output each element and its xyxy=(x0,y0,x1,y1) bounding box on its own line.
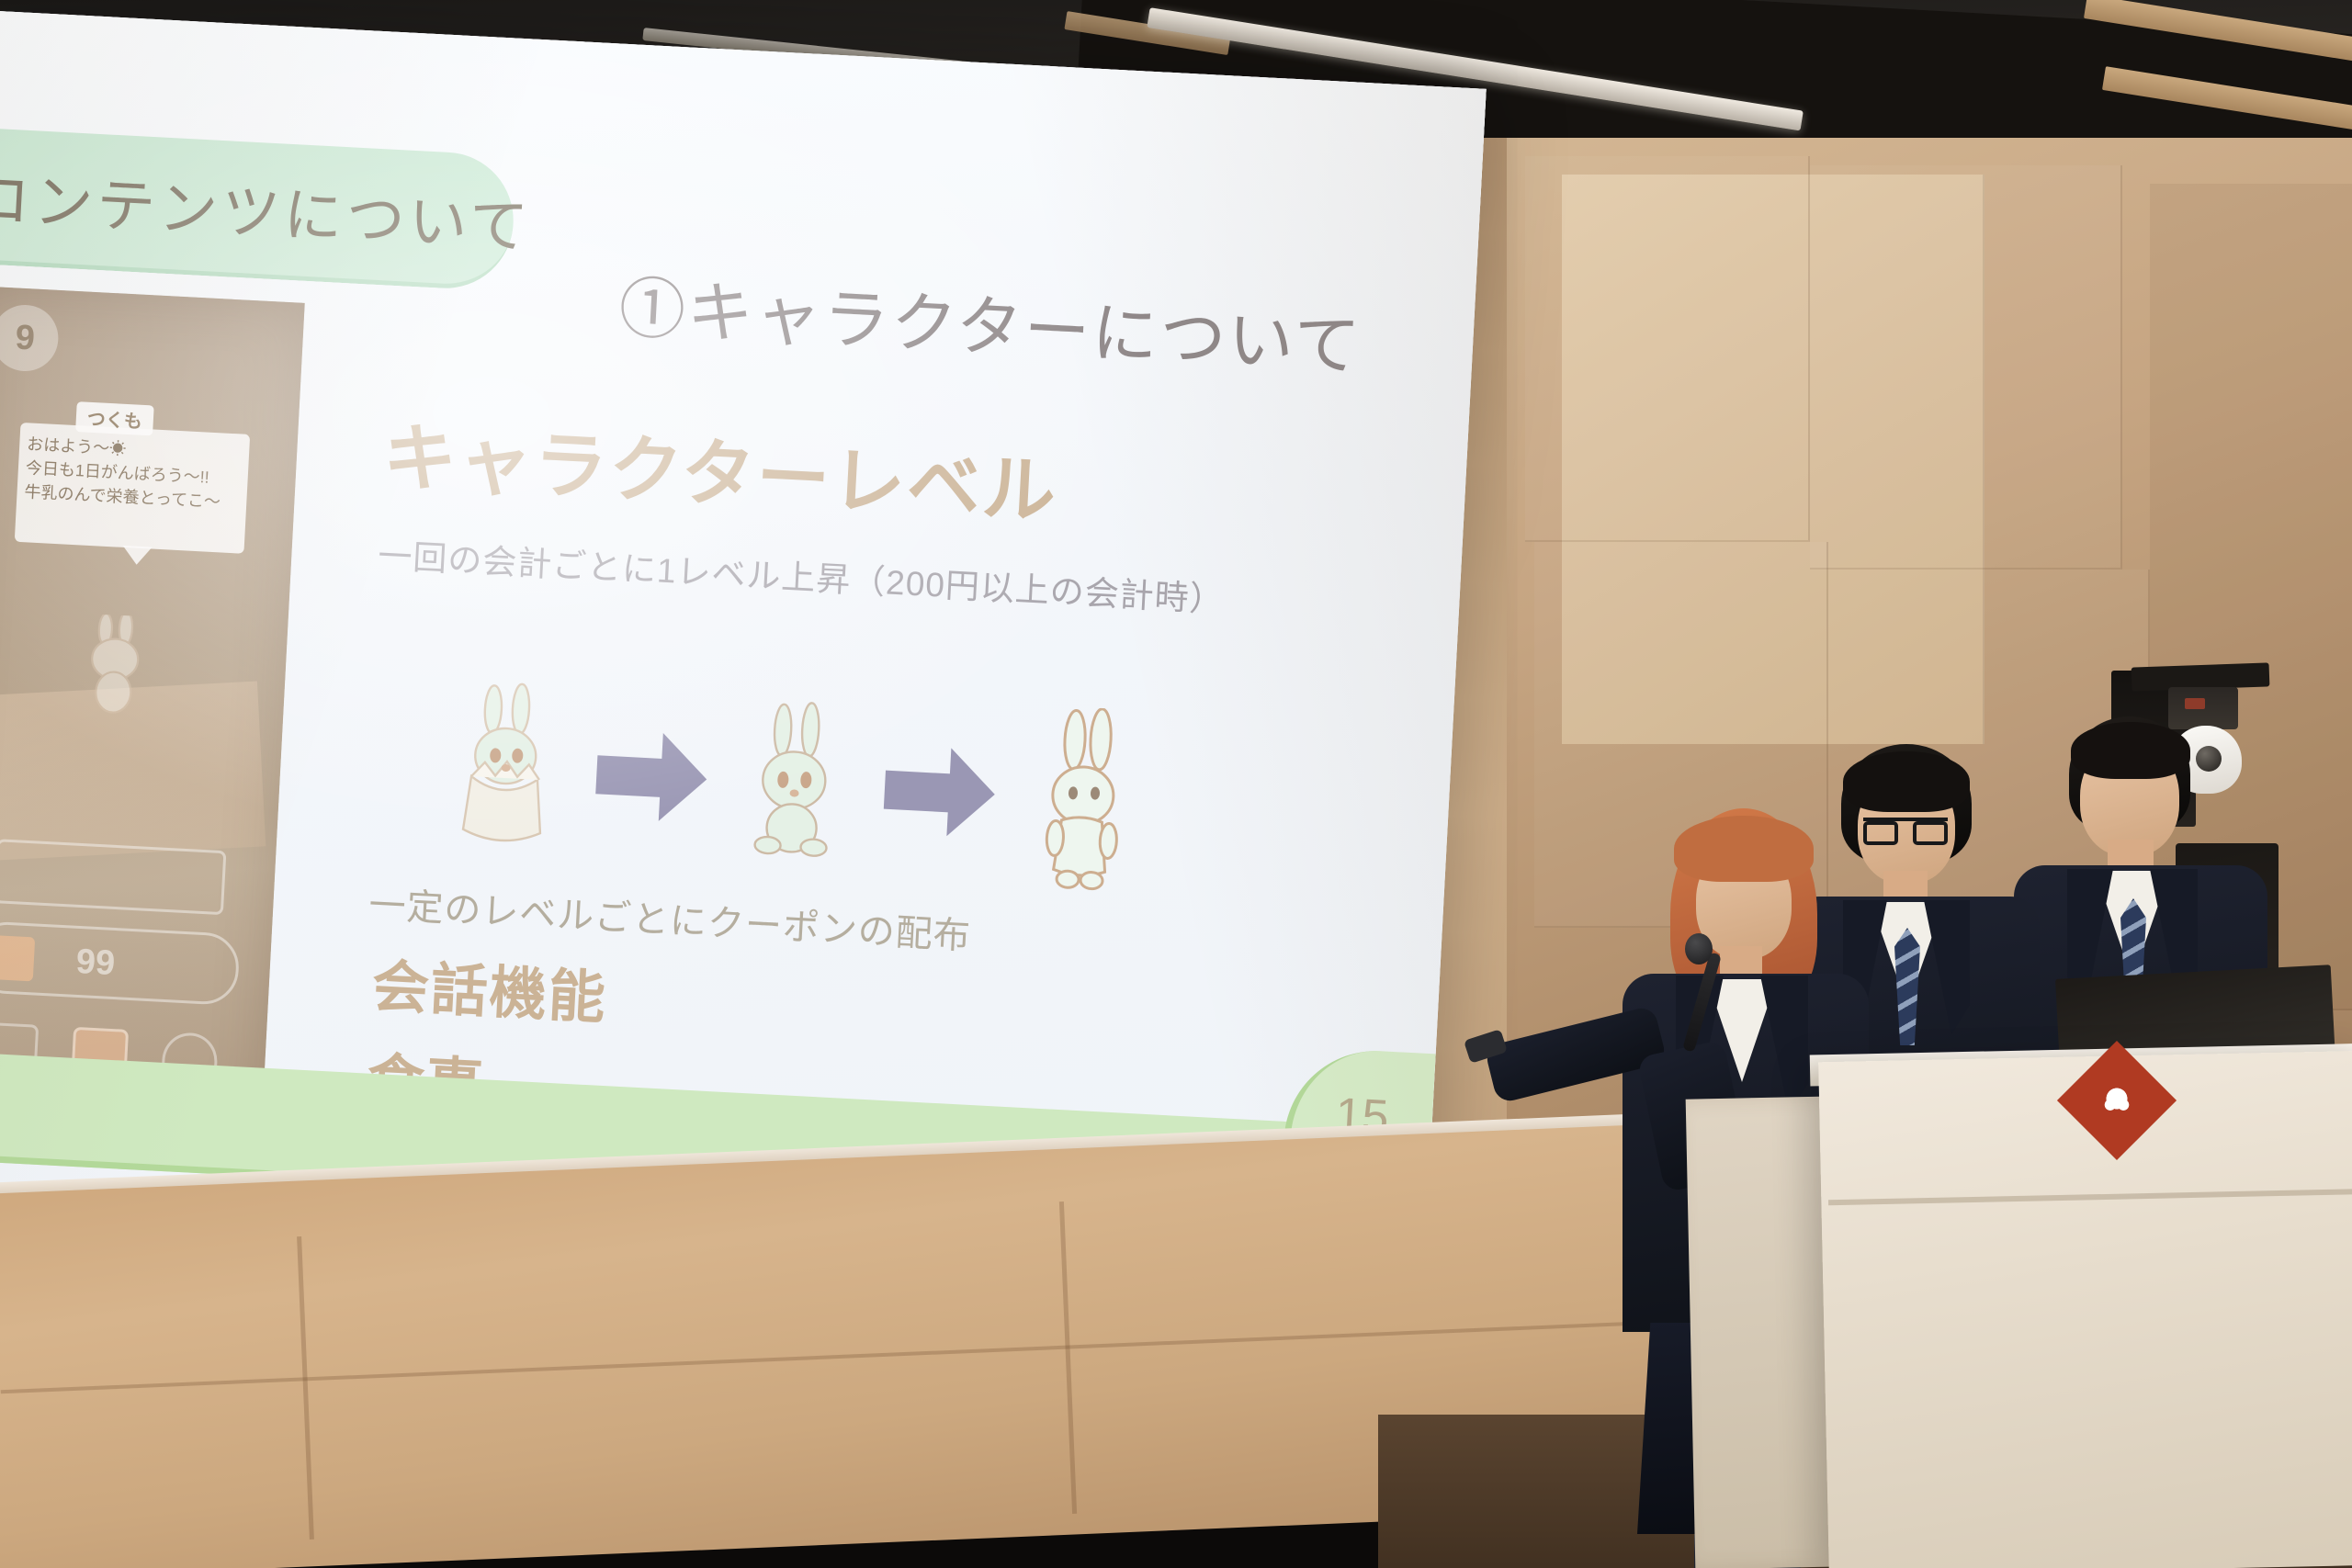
slide-main-heading: キャラクターレベル xyxy=(380,398,1060,539)
coin-count: 99 xyxy=(75,942,116,983)
evolution-stage-egg xyxy=(434,673,581,864)
speech-bubble-tail xyxy=(122,546,153,566)
wall-panel xyxy=(1810,165,2122,570)
slide-section-tab-label: コンテンツについて xyxy=(0,151,534,265)
hair-fringe xyxy=(1674,816,1814,882)
app-info-card xyxy=(0,839,226,915)
arrow-head xyxy=(659,733,709,823)
slide-section-tab: コンテンツについて xyxy=(0,122,516,291)
arrow-shaft xyxy=(884,771,957,813)
character-evolution-row xyxy=(434,669,1196,901)
coin-icon xyxy=(0,935,35,981)
arrow-shaft xyxy=(595,755,669,797)
app-screenshot-mock: 9 つくも おはよう〜☀ 今日も1日がんばろう〜!! 牛乳のんで栄養とってこ〜 xyxy=(0,286,305,1129)
slide-subheading-conversation: 会話機能 xyxy=(370,940,609,1034)
character-speech-bubble: つくも おはよう〜☀ 今日も1日がんばろう〜!! 牛乳のんで栄養とってこ〜 xyxy=(15,423,250,554)
character-name-tag: つくも xyxy=(75,401,154,435)
camera-status-led xyxy=(2185,698,2205,709)
evolution-arrow-icon xyxy=(882,745,997,839)
evolution-stage-grown xyxy=(1011,704,1158,895)
crest-icon xyxy=(2098,1082,2135,1119)
evolution-arrow-icon xyxy=(594,729,709,823)
app-coin-bar: 99 xyxy=(0,920,241,1006)
wall-panel xyxy=(1525,156,1810,542)
evolution-stage-baby xyxy=(722,689,869,880)
app-level-badge: 9 xyxy=(0,303,60,373)
hair-fringe xyxy=(1843,751,1970,812)
arrow-head xyxy=(946,748,997,838)
microphone-icon[interactable] xyxy=(1685,933,1713,964)
bunny-character-icon xyxy=(70,613,160,718)
hair-fringe xyxy=(2071,722,2190,779)
auditorium-scene: コンテンツについて ①キャラクターについて 9 つくも おはよう〜☀ 今日も1日… xyxy=(0,0,2352,1568)
slide-title: ①キャラクターについて xyxy=(617,254,1364,389)
slide-note-level-up: 一回の会計ごとに1レベル上昇（200円以上の会計時） xyxy=(377,527,1226,621)
